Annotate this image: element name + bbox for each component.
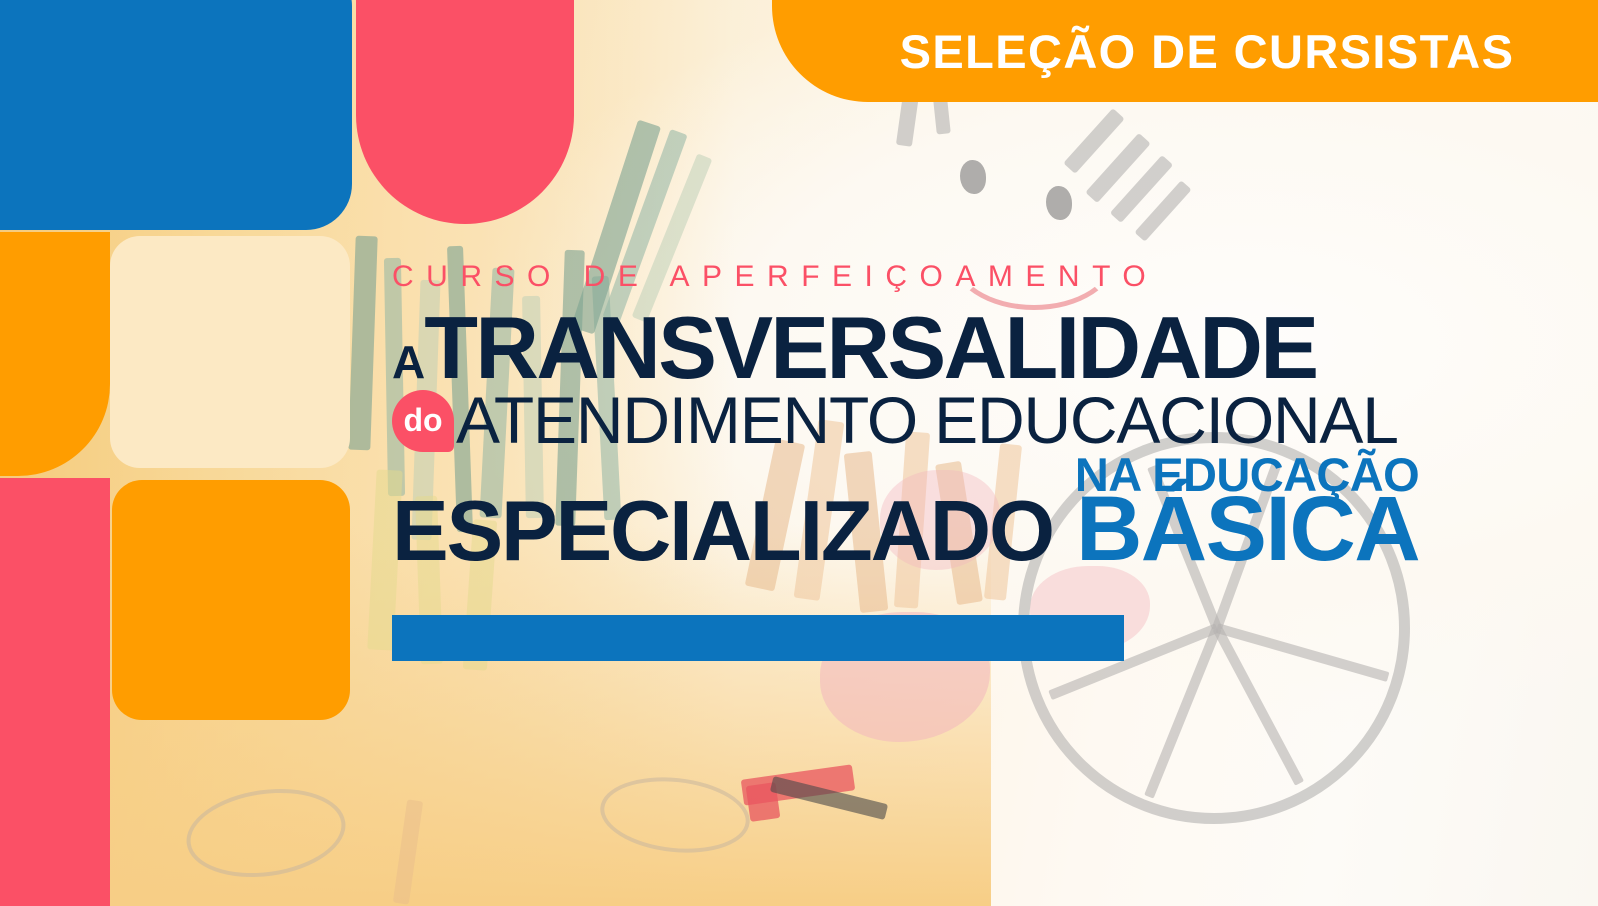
shape-cream-card — [110, 236, 350, 468]
title-line-1: A TRANSVERSALIDADE — [392, 310, 1598, 386]
title-article: A — [392, 343, 424, 386]
shape-coral-bar — [0, 478, 110, 906]
headline-block: CURSO DE APERFEIÇOAMENTO A TRANSVERSALID… — [392, 262, 1598, 570]
poster-banner: SELEÇÃO DE CURSISTAS CURSO DE APERFEIÇOA… — [0, 0, 1598, 906]
shape-orange-square — [112, 480, 350, 720]
course-type-eyebrow: CURSO DE APERFEIÇOAMENTO — [392, 262, 1598, 292]
selection-banner: SELEÇÃO DE CURSISTAS — [772, 0, 1598, 102]
drawing-eye-left — [960, 160, 986, 194]
title-line-2-text: ATENDIMENTO EDUCACIONAL — [456, 391, 1398, 450]
selection-banner-label: SELEÇÃO DE CURSISTAS — [900, 28, 1515, 75]
shape-coral-circle — [356, 0, 574, 224]
shape-blue-block — [0, 0, 352, 230]
title-blue-group: NA EDUCAÇÃO BÁSICA — [1075, 454, 1419, 570]
blue-underline-bar — [392, 615, 1124, 661]
title-line-3-text: ESPECIALIZADO — [392, 495, 1053, 570]
title-main-word: TRANSVERSALIDADE — [424, 310, 1316, 386]
title-line-3: ESPECIALIZADO NA EDUCAÇÃO BÁSICA — [392, 454, 1598, 570]
do-badge: do — [392, 390, 454, 452]
title-line-2: do ATENDIMENTO EDUCACIONAL — [392, 390, 1598, 452]
title-blue-big: BÁSICA — [1076, 489, 1419, 570]
